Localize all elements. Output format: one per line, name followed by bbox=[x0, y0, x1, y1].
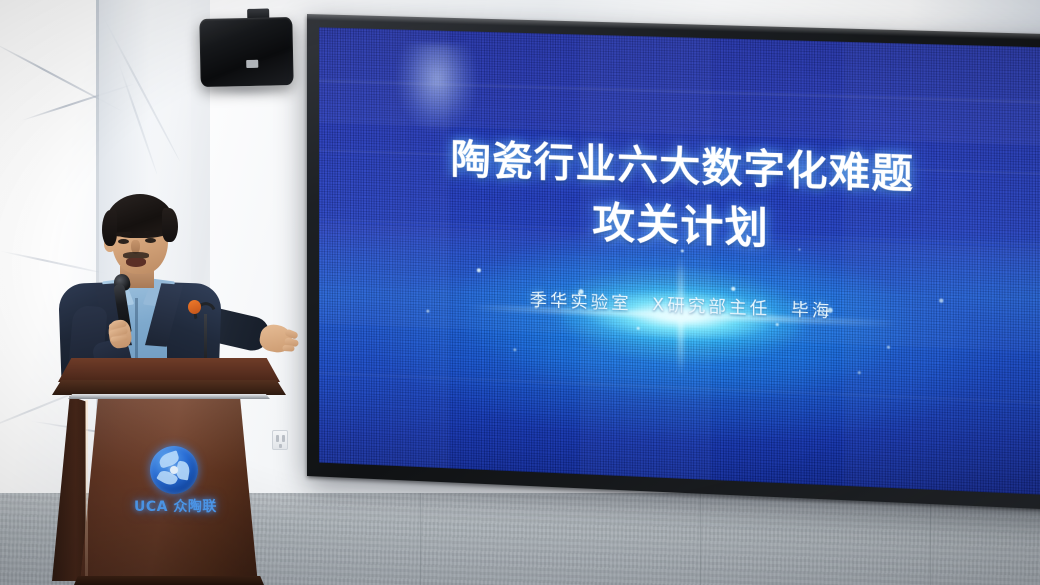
logo-wordmark: UCA 众陶联 bbox=[134, 496, 210, 516]
display-bezel: 陶瓷行业六大数字化难题 攻关计划 季华实验室 X研究部主任 毕海 bbox=[307, 14, 1040, 510]
lectern-desktop-edge bbox=[52, 380, 286, 395]
speaker-shadow bbox=[196, 86, 296, 97]
lectern-edge-highlight bbox=[85, 400, 88, 580]
speaker-body bbox=[199, 17, 293, 87]
lectern-desktop bbox=[58, 358, 280, 382]
lectern-base bbox=[74, 576, 264, 585]
slide-subtitle: 季华实验室 X研究部主任 毕海 bbox=[319, 277, 1040, 330]
presenter-eye-right bbox=[145, 238, 156, 243]
lectern: UCA 众陶联 bbox=[38, 358, 296, 585]
presenter-brow-right bbox=[144, 231, 160, 236]
company-logo: UCA 众陶联 bbox=[134, 446, 210, 520]
presenter-hair-side-left bbox=[102, 210, 117, 246]
presenter-hair-side-right bbox=[162, 208, 178, 242]
presenter-mouth bbox=[126, 258, 146, 267]
speaker-badge-icon bbox=[246, 60, 258, 68]
logo-center-dot bbox=[170, 466, 178, 474]
wall-speaker bbox=[199, 17, 293, 87]
lectern-side-panel bbox=[52, 396, 86, 581]
presentation-scene: 陶瓷行业六大数字化难题 攻关计划 季华实验室 X研究部主任 毕海 bbox=[0, 0, 1040, 585]
lectern-chrome-trim bbox=[66, 394, 272, 399]
microphone-windscreen-icon bbox=[188, 300, 201, 314]
presenter-eye-left bbox=[118, 239, 129, 244]
led-display[interactable]: 陶瓷行业六大数字化难题 攻关计划 季华实验室 X研究部主任 毕海 bbox=[307, 14, 1040, 510]
slide-content: 陶瓷行业六大数字化难题 攻关计划 季华实验室 X研究部主任 毕海 bbox=[319, 27, 1040, 495]
display-screen: 陶瓷行业六大数字化难题 攻关计划 季华实验室 X研究部主任 毕海 bbox=[319, 27, 1040, 495]
